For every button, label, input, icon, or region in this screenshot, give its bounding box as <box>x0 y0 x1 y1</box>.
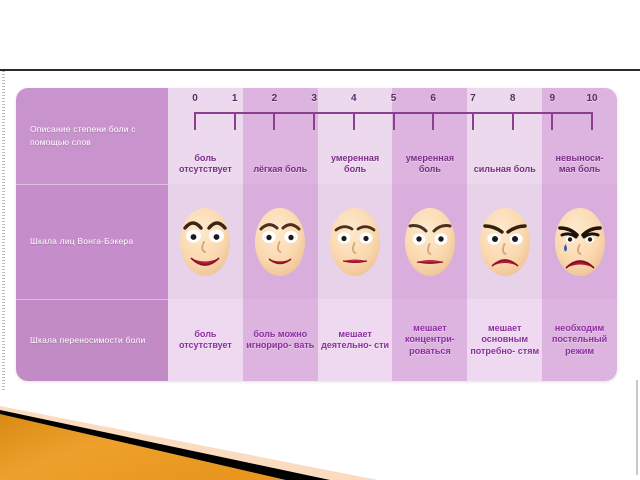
row-label-verbal-description: Описание степени боли с помощью слов <box>16 88 168 184</box>
table-row-tolerance-scale: Шкала переносимости боли боль отсутствуе… <box>16 299 617 381</box>
tolerance-label-0: боль отсутствует <box>168 329 243 352</box>
tolerance-label-2: мешает деятельно- сти <box>318 329 393 352</box>
verbal-label-4: сильная боль <box>471 164 538 175</box>
face-neutral-icon <box>318 184 393 299</box>
tolerance-cell-2[interactable]: мешает деятельно- сти <box>318 299 393 381</box>
verbal-cell-3[interactable]: умеренная боль <box>392 88 467 184</box>
slide-canvas: Описание степени боли с помощью слов бол… <box>0 0 640 480</box>
face-frown-icon <box>467 184 542 299</box>
face-cell-1[interactable] <box>243 184 318 299</box>
tolerance-cell-5[interactable]: необходим постельный режим <box>542 299 617 381</box>
face-worried-icon <box>392 184 467 299</box>
verbal-cell-2[interactable]: умеренная боль <box>318 88 393 184</box>
verbal-label-5: невыноси- мая боль <box>546 153 613 175</box>
pain-scale-table: Описание степени боли с помощью слов бол… <box>16 88 617 381</box>
tolerance-cell-3[interactable]: мешает концентри- роваться <box>392 299 467 381</box>
face-cell-3[interactable] <box>392 184 467 299</box>
faces-cells <box>168 184 617 299</box>
decorative-bottom-band <box>0 394 640 480</box>
table-row-faces-scale: Шкала лиц Вонга-Бэкера <box>16 184 617 299</box>
verbal-label-0: боль отсутствует <box>172 153 239 175</box>
row-label-tolerance-scale: Шкала переносимости боли <box>16 299 168 381</box>
tolerance-cell-4[interactable]: мешает основным потребно- стям <box>467 299 542 381</box>
tolerance-cells: боль отсутствует боль можно игнориро- ва… <box>168 299 617 381</box>
face-smile-icon <box>243 184 318 299</box>
tolerance-label-5: необходим постельный режим <box>542 323 617 358</box>
verbal-cell-4[interactable]: сильная боль <box>467 88 542 184</box>
tolerance-label-4: мешает основным потребно- стям <box>467 323 542 358</box>
face-crying-icon <box>542 184 617 299</box>
top-divider-rule <box>0 69 640 71</box>
verbal-label-1: лёгкая боль <box>247 164 314 175</box>
verbal-cell-1[interactable]: лёгкая боль <box>243 88 318 184</box>
verbal-label-3: умеренная боль <box>396 153 463 175</box>
tolerance-label-3: мешает концентри- роваться <box>392 323 467 358</box>
tolerance-label-1: боль можно игнориро- вать <box>243 329 318 352</box>
verbal-cell-5[interactable]: невыноси- мая боль <box>542 88 617 184</box>
face-cell-0[interactable] <box>168 184 243 299</box>
row-label-faces-scale: Шкала лиц Вонга-Бэкера <box>16 184 168 299</box>
left-dotted-border <box>2 71 5 391</box>
face-cell-4[interactable] <box>467 184 542 299</box>
face-big-smile-icon <box>168 184 243 299</box>
verbal-cells: боль отсутствует лёгкая боль умеренная б… <box>168 88 617 184</box>
face-cell-2[interactable] <box>318 184 393 299</box>
tolerance-cell-0[interactable]: боль отсутствует <box>168 299 243 381</box>
tolerance-cell-1[interactable]: боль можно игнориро- вать <box>243 299 318 381</box>
verbal-cell-0[interactable]: боль отсутствует <box>168 88 243 184</box>
table-row-verbal-description: Описание степени боли с помощью слов бол… <box>16 88 617 184</box>
verbal-label-2: умеренная боль <box>322 153 389 175</box>
face-cell-5[interactable] <box>542 184 617 299</box>
